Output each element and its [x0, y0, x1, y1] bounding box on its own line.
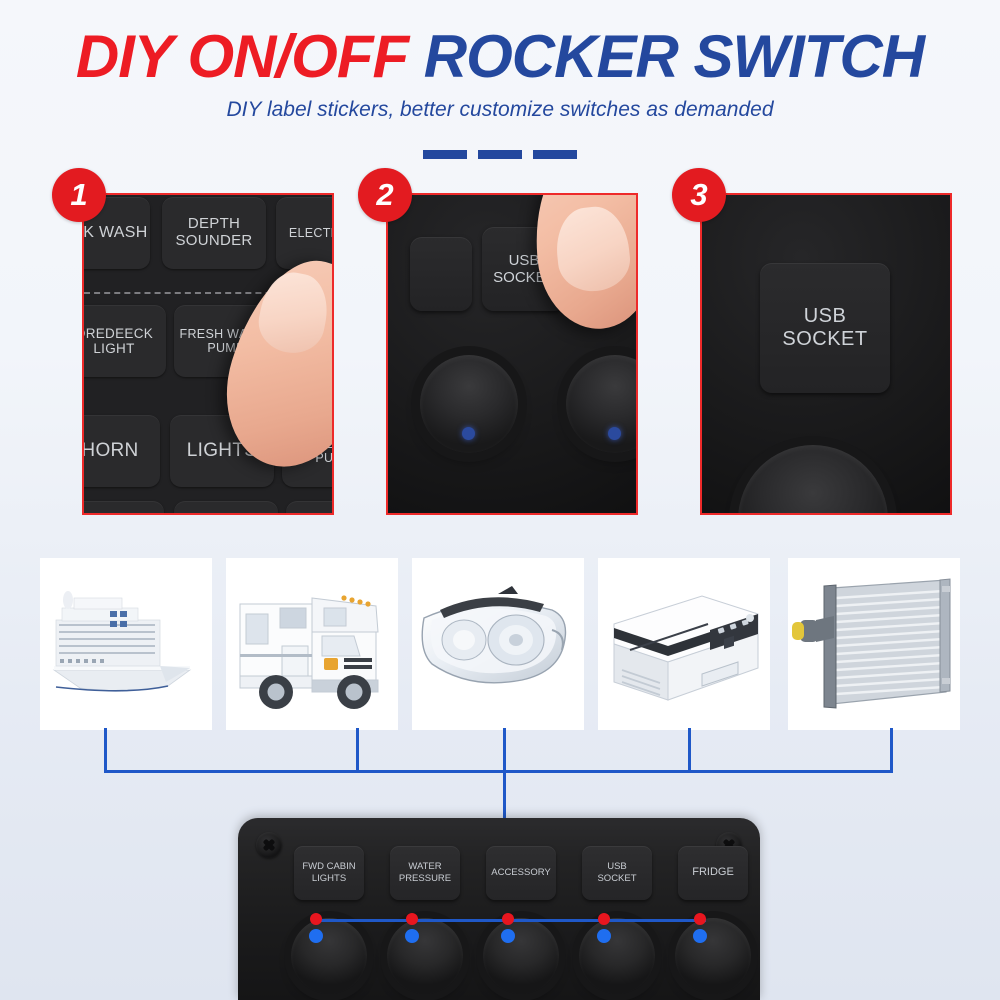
switch-label-text: USB SOCKET	[597, 861, 636, 885]
sticker-electronics: ELECTRONI	[276, 197, 334, 269]
step-badge-3: 3	[672, 168, 726, 222]
wire-bus-bar	[104, 770, 893, 773]
cruise-ship-icon	[40, 558, 212, 730]
wire-drop-radiator	[890, 728, 893, 772]
application-images	[0, 558, 1000, 730]
page-header: DIY ON/OFF ROCKER SWITCH DIY label stick…	[0, 0, 1000, 150]
portable-fridge-icon	[598, 558, 770, 730]
application-card-radiator	[788, 558, 960, 730]
switch-label-line2: LIGHTS	[312, 873, 346, 884]
label-plate-empty	[410, 237, 472, 311]
rocker-switch	[738, 445, 888, 515]
step-panels: ECK WASH DEPTH SOUNDER ELECTRONI OREDEEC…	[0, 193, 1000, 523]
wire-drop-boat	[104, 728, 107, 772]
application-card-fridge	[598, 558, 770, 730]
rocker-switch-accessory[interactable]	[483, 918, 559, 994]
switch-label-accessory[interactable]: ACCESSORY	[486, 846, 556, 900]
switch-label-line1: FWD CABIN	[302, 861, 355, 872]
application-card-boat	[40, 558, 212, 730]
marker-red-4	[598, 913, 610, 925]
marker-red-5	[694, 913, 706, 925]
sticker-foredeck-light: OREDEECK LIGHT	[82, 305, 166, 377]
switch-label-fwd-cabin-lights[interactable]: FWD CABIN LIGHTS	[294, 846, 364, 900]
sticker-horn: HORN	[82, 415, 160, 487]
application-card-rv	[226, 558, 398, 730]
step-panel-1: ECK WASH DEPTH SOUNDER ELECTRONI OREDEEC…	[82, 193, 334, 515]
switch-label-text: FWD CABIN LIGHTS	[302, 861, 355, 885]
radiator-intercooler-icon	[788, 558, 960, 730]
switch-label-line1: USB	[607, 861, 627, 872]
rocker-switch-usb-socket[interactable]	[579, 918, 655, 994]
switch-label-text: WATER PRESSURE	[399, 861, 451, 885]
sticker-text: DEPTH SOUNDER	[162, 216, 266, 250]
wire-drop-rv	[356, 728, 359, 772]
divider-dash	[533, 150, 577, 159]
label-line-2: SOCKET	[782, 328, 867, 350]
label-plate-text: USB SOCKET	[782, 305, 867, 351]
sticker-text: OREDEECK LIGHT	[82, 326, 166, 356]
title-part-red: DIY ON/OFF	[76, 23, 408, 90]
finger-hand	[527, 193, 638, 335]
fingernail	[254, 267, 334, 358]
sticker-blank	[286, 501, 334, 515]
sticker-text: HORN	[82, 440, 139, 461]
switch-label-fridge[interactable]: FRIDGE	[678, 846, 748, 900]
marker-red-3	[502, 913, 514, 925]
product-switch-panel: FWD CABIN LIGHTS WATER PRESSURE ACCESSOR…	[238, 818, 760, 1000]
switch-label-water-pressure[interactable]: WATER PRESSURE	[390, 846, 460, 900]
label-plate-usb-socket: USB SOCKET	[760, 263, 890, 393]
marker-blue-1	[309, 929, 323, 943]
divider-dash	[478, 150, 522, 159]
switch-led-indicator	[608, 427, 621, 440]
rocker-switch	[566, 355, 638, 453]
screw-top-left	[256, 832, 282, 858]
wire-drop-headlight	[503, 728, 506, 772]
wire-drop-fridge	[688, 728, 691, 772]
switch-panel-face: USB SOCKET	[702, 195, 950, 513]
label-line-1: USB	[804, 305, 847, 327]
marker-blue-5	[693, 929, 707, 943]
step-panel-3: USB SOCKET	[700, 193, 952, 515]
step-badge-1: 1	[52, 168, 106, 222]
switch-label-usb-socket[interactable]: USB SOCKET	[582, 846, 652, 900]
marker-blue-3	[501, 929, 515, 943]
rocker-switch-water-pressure[interactable]	[387, 918, 463, 994]
marker-blue-4	[597, 929, 611, 943]
step-badge-2: 2	[358, 168, 412, 222]
divider-dashes	[0, 150, 1000, 159]
switch-label-line2: SOCKET	[597, 873, 636, 884]
switch-label-line1: FRIDGE	[692, 866, 734, 878]
page-title: DIY ON/OFF ROCKER SWITCH	[0, 22, 1000, 91]
title-part-blue: ROCKER SWITCH	[424, 23, 924, 90]
marker-red-1	[310, 913, 322, 925]
application-card-headlight	[412, 558, 584, 730]
rocker-switch-fridge[interactable]	[675, 918, 751, 994]
sticker-depth-sounder: DEPTH SOUNDER	[162, 197, 266, 269]
switch-panel-face: USB SOCKET	[388, 195, 636, 513]
switch-label-line1: WATER	[408, 861, 441, 872]
rv-motorhome-icon	[226, 558, 398, 730]
marker-blue-2	[405, 929, 419, 943]
switch-label-text: FRIDGE	[692, 866, 734, 880]
car-headlight-icon	[412, 558, 584, 730]
sticker-text: ELECTRONI	[289, 226, 334, 240]
rocker-switch-fwd-cabin-lights[interactable]	[291, 918, 367, 994]
step-panel-2: USB SOCKET	[386, 193, 638, 515]
divider-dash	[423, 150, 467, 159]
switch-label-line2: PRESSURE	[399, 873, 451, 884]
sticker-text: ECK WASH	[82, 224, 148, 242]
rocker-switch	[420, 355, 518, 453]
label-line-1: USB	[509, 252, 540, 269]
switch-led-indicator	[462, 427, 475, 440]
marker-red-2	[406, 913, 418, 925]
switch-label-text: ACCESSORY	[491, 867, 550, 879]
switch-label-line1: ACCESSORY	[491, 867, 550, 878]
label-sticker-sheet: ECK WASH DEPTH SOUNDER ELECTRONI OREDEEC…	[84, 195, 332, 513]
sticker-blank	[174, 501, 278, 515]
page-subtitle: DIY label stickers, better customize swi…	[0, 98, 1000, 122]
fingernail	[553, 204, 633, 295]
sticker-blank	[82, 501, 164, 515]
